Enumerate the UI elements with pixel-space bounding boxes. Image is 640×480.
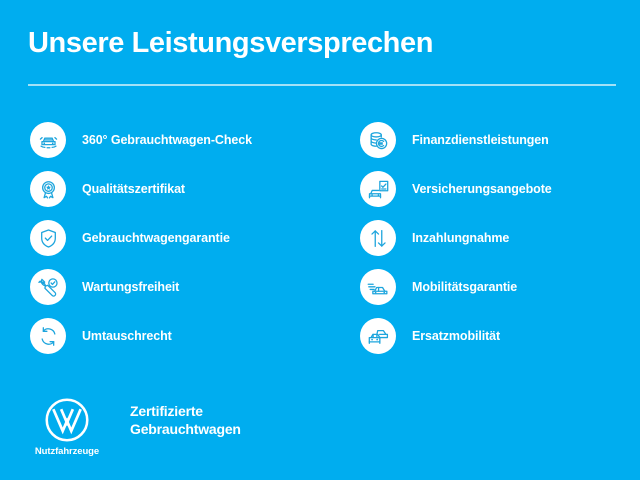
title-divider bbox=[28, 84, 616, 86]
page-title: Unsere Leistungsversprechen bbox=[28, 28, 616, 60]
list-item-label: Gebrauchtwagengarantie bbox=[82, 231, 230, 245]
brand-mark: Nutzfahrzeuge bbox=[30, 396, 104, 457]
list-item-label: Ersatzmobilität bbox=[412, 329, 500, 343]
list-item: Gebrauchtwagengarantie bbox=[30, 220, 330, 256]
list-item-label: Versicherungsangebote bbox=[412, 182, 552, 196]
coins-euro-icon bbox=[360, 122, 396, 158]
volkswagen-logo bbox=[43, 396, 91, 444]
list-item-label: Mobilitätsgarantie bbox=[412, 280, 517, 294]
header: Unsere Leistungsversprechen bbox=[28, 28, 616, 86]
list-item: Inzahlungnahme bbox=[360, 220, 610, 256]
promises-right-column: Finanzdienstleistungen bbox=[360, 122, 610, 354]
car-motion-icon bbox=[360, 269, 396, 305]
brand-subtitle: Nutzfahrzeuge bbox=[35, 446, 99, 457]
list-item: Finanzdienstleistungen bbox=[360, 122, 610, 158]
list-item: Mobilitätsgarantie bbox=[360, 269, 610, 305]
list-item: Wartungsfreiheit bbox=[30, 269, 330, 305]
promises-grid: 360° Gebrauchtwagen-Check Qualitätszerti… bbox=[0, 122, 640, 354]
list-item: Ersatzmobilität bbox=[360, 318, 610, 354]
list-item-label: 360° Gebrauchtwagen-Check bbox=[82, 133, 252, 147]
slide-root: Unsere Leistungsversprechen bbox=[0, 0, 640, 480]
list-item: Qualitätszertifikat bbox=[30, 171, 330, 207]
exchange-arrows-icon bbox=[30, 318, 66, 354]
brand-claim-line-2: Gebrauchtwagen bbox=[130, 420, 241, 438]
brand-claim-line-1: Zertifizierte bbox=[130, 402, 241, 420]
list-item: Versicherungsangebote bbox=[360, 171, 610, 207]
shield-check-icon bbox=[30, 220, 66, 256]
arrows-up-down-icon bbox=[360, 220, 396, 256]
list-item: 360° Gebrauchtwagen-Check bbox=[30, 122, 330, 158]
promises-left-column: 360° Gebrauchtwagen-Check Qualitätszerti… bbox=[30, 122, 330, 354]
wrench-check-icon bbox=[30, 269, 66, 305]
car-insurance-checklist-icon bbox=[360, 171, 396, 207]
footer: Nutzfahrzeuge Zertifizierte Gebrauchtwag… bbox=[30, 396, 241, 457]
list-item: Umtauschrecht bbox=[30, 318, 330, 354]
list-item-label: Inzahlungnahme bbox=[412, 231, 509, 245]
brand-claim: Zertifizierte Gebrauchtwagen bbox=[130, 402, 241, 439]
list-item-label: Qualitätszertifikat bbox=[82, 182, 185, 196]
quality-seal-icon bbox=[30, 171, 66, 207]
list-item-label: Umtauschrecht bbox=[82, 329, 172, 343]
list-item-label: Finanzdienstleistungen bbox=[412, 133, 549, 147]
car-inspection-icon bbox=[30, 122, 66, 158]
list-item-label: Wartungsfreiheit bbox=[82, 280, 179, 294]
two-cars-icon bbox=[360, 318, 396, 354]
